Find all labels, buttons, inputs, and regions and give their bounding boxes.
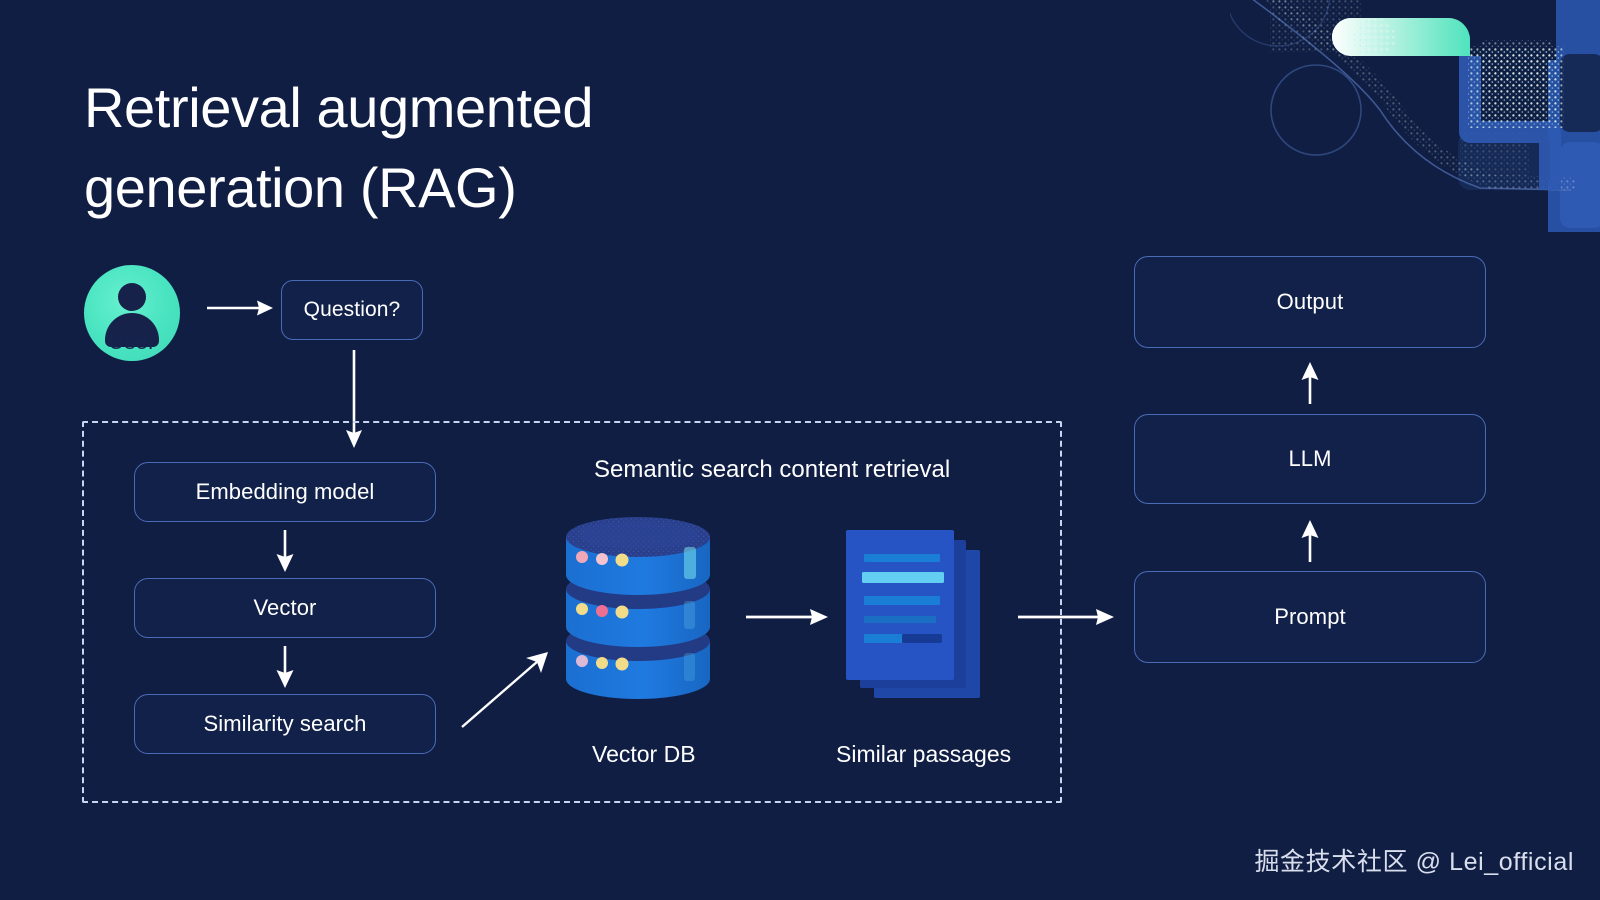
avatar: User	[84, 265, 180, 361]
generation-label-llm: LLM	[1288, 446, 1331, 472]
arrow-passages-to-prompt	[1016, 605, 1116, 634]
question-box[interactable]: Question?	[281, 280, 423, 340]
watermark: 掘金技术社区 @ Lei_official	[1254, 842, 1574, 878]
slide-canvas: Retrieval augmented generation (RAG) Use…	[0, 0, 1600, 900]
generation-box-output[interactable]: Output	[1134, 256, 1486, 348]
pipeline-label-embedding-model: Embedding model	[196, 479, 375, 505]
similar-passages-graphic	[840, 528, 992, 713]
generation-label-prompt: Prompt	[1274, 604, 1346, 630]
person-icon-head	[118, 283, 146, 311]
arrow-vectordb-to-passages	[744, 605, 830, 634]
arrow-llm-to-output	[1297, 360, 1323, 411]
arrow-embedding-to-vector	[272, 528, 298, 579]
semantic-search-label: Semantic search content retrieval	[594, 456, 950, 484]
vector-db-graphic	[560, 513, 716, 721]
pipeline-box-embedding-model[interactable]: Embedding model	[134, 462, 436, 522]
page-title: Retrieval augmented generation (RAG)	[84, 68, 784, 227]
generation-box-llm[interactable]: LLM	[1134, 414, 1486, 504]
pipeline-label-vector: Vector	[254, 595, 317, 621]
generation-label-output: Output	[1277, 289, 1344, 315]
arrow-prompt-to-llm	[1297, 518, 1323, 569]
decorative-artwork	[1230, 0, 1600, 232]
arrow-vector-to-similarity	[272, 644, 298, 695]
vector-db-caption: Vector DB	[592, 741, 696, 768]
pipeline-box-similarity-search[interactable]: Similarity search	[134, 694, 436, 754]
pipeline-label-similarity-search: Similarity search	[203, 711, 366, 737]
generation-box-prompt[interactable]: Prompt	[1134, 571, 1486, 663]
arrow-user-to-question	[205, 296, 275, 325]
similar-passages-caption: Similar passages	[836, 741, 1011, 768]
pipeline-box-vector[interactable]: Vector	[134, 578, 436, 638]
avatar-label: User	[84, 329, 180, 355]
question-label: Question?	[304, 298, 401, 322]
arrow-similarity-to-vectordb	[458, 645, 554, 736]
